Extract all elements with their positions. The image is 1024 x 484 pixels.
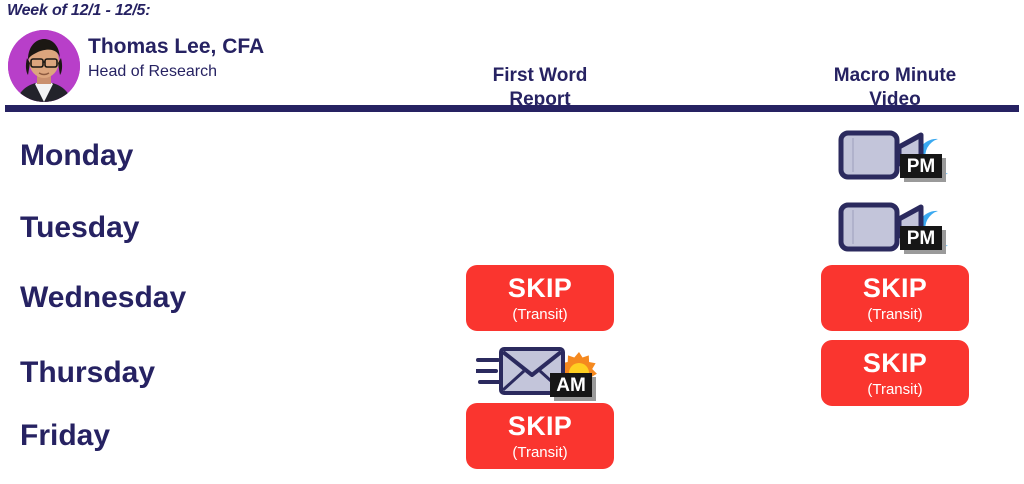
skip-badge-title: SKIP [863,350,927,377]
header-row: Thomas Lee, CFA Head of Research First W… [0,28,1024,104]
video-camera-pm-moon-icon: PM [835,125,955,187]
table-row: Wednesday SKIP (Transit) SKIP (Transit) [0,262,1024,334]
skip-badge-reason: (Transit) [867,382,922,397]
day-label-friday: Friday [20,419,110,453]
weekly-publication-schedule: Week of 12/1 - 12/5: [0,0,1024,484]
table-row: Thursday [0,337,1024,409]
avatar-photo-icon [8,30,80,102]
person-name: Thomas Lee, CFA [88,34,264,60]
skip-badge-reason: (Transit) [512,307,567,322]
day-label-tuesday: Tuesday [20,211,140,245]
envelope-am-sun-icon: AM [476,344,604,402]
skip-badge[interactable]: SKIP (Transit) [821,340,969,406]
cell-thursday-macro-minute: SKIP (Transit) [772,337,1018,409]
cell-monday-macro-minute: PM [772,120,1018,192]
table-row: Monday PM [0,120,1024,192]
table-row: Tuesday PM [0,192,1024,264]
cell-thursday-first-word: AM [420,337,660,409]
skip-badge-title: SKIP [508,413,572,440]
skip-badge[interactable]: SKIP (Transit) [821,265,969,331]
column-header-line1: Macro Minute [772,64,1018,88]
cell-monday-first-word [420,120,660,192]
svg-text:PM: PM [907,156,936,177]
header-divider [5,105,1019,112]
skip-badge-title: SKIP [508,275,572,302]
avatar [8,30,80,102]
skip-badge[interactable]: SKIP (Transit) [466,265,614,331]
table-row: Friday SKIP (Transit) [0,400,1024,472]
person-block: Thomas Lee, CFA Head of Research [88,34,264,83]
skip-badge-reason: (Transit) [512,445,567,460]
skip-badge[interactable]: SKIP (Transit) [466,403,614,469]
skip-badge-title: SKIP [863,275,927,302]
cell-tuesday-first-word [420,192,660,264]
svg-text:AM: AM [556,375,586,396]
cell-wednesday-first-word: SKIP (Transit) [420,262,660,334]
svg-text:PM: PM [907,228,936,249]
cell-friday-macro-minute [772,400,1018,472]
cell-wednesday-macro-minute: SKIP (Transit) [772,262,1018,334]
day-label-wednesday: Wednesday [20,281,186,315]
skip-badge-reason: (Transit) [867,307,922,322]
column-header-line1: First Word [420,64,660,88]
cell-friday-first-word: SKIP (Transit) [420,400,660,472]
person-role: Head of Research [88,62,264,83]
week-title: Week of 12/1 - 12/5: [7,2,150,20]
cell-tuesday-macro-minute: PM [772,192,1018,264]
video-camera-pm-moon-icon: PM [835,197,955,259]
day-label-thursday: Thursday [20,356,155,390]
day-label-monday: Monday [20,139,133,173]
